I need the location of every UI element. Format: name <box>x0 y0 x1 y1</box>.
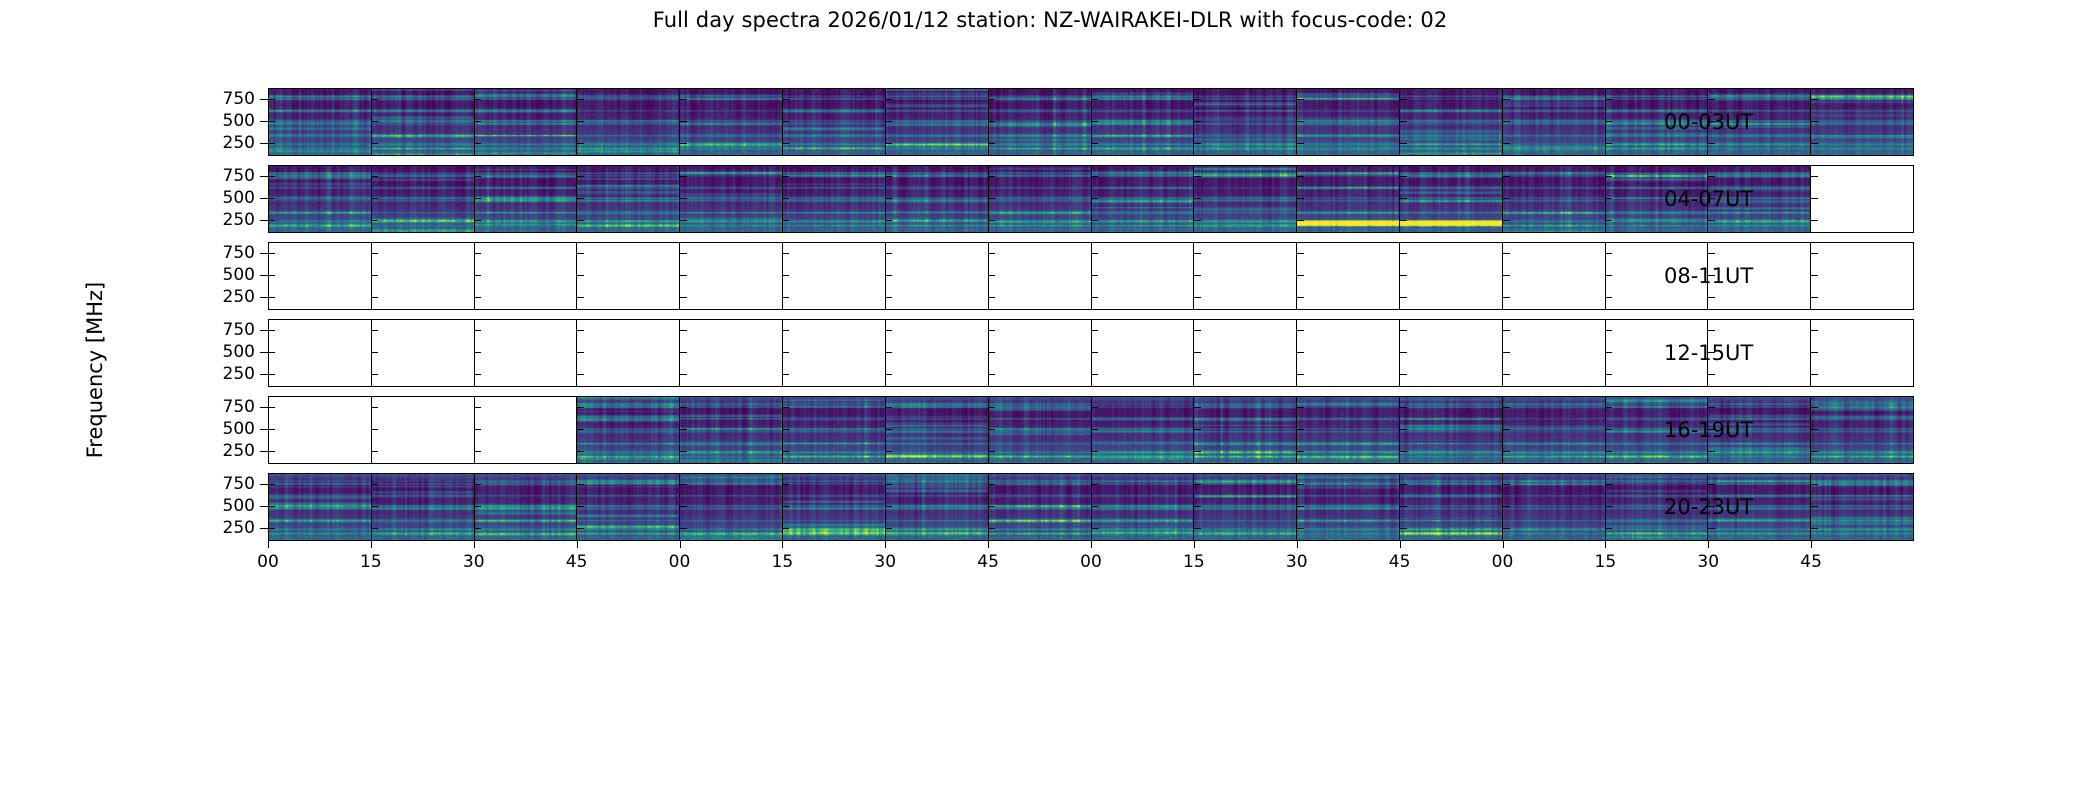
panel-y-tick <box>680 121 687 122</box>
spectrogram-panel[interactable] <box>269 474 372 540</box>
spectrogram-image <box>1297 397 1399 463</box>
panel-y-tick <box>782 275 789 276</box>
panel-y-tick <box>988 143 995 144</box>
spectrogram-panel[interactable] <box>989 474 1092 540</box>
y-axis-tick-label: 500 <box>223 188 255 208</box>
spectrogram-image <box>1400 89 1502 155</box>
panel-y-tick <box>1194 176 1201 177</box>
spectrogram-panel[interactable] <box>1194 397 1297 463</box>
spectrogram-panel[interactable] <box>886 397 989 463</box>
spectrogram-image <box>269 166 371 232</box>
panel-y-tick <box>680 275 687 276</box>
x-axis-tick-label: 00 <box>257 552 279 572</box>
spectrogram-image <box>1092 166 1194 232</box>
spectrogram-image <box>783 397 885 463</box>
spectrogram-panel[interactable] <box>1503 397 1606 463</box>
panel-y-tick <box>680 407 687 408</box>
panel-y-tick <box>1503 220 1510 221</box>
spectrogram-panel[interactable] <box>577 243 680 309</box>
panel-y-tick <box>1708 407 1715 408</box>
spectrogram-panel[interactable] <box>680 166 783 232</box>
panel-y-tick <box>1811 121 1818 122</box>
panel-y-tick <box>1811 275 1818 276</box>
spectrogram-image <box>475 89 577 155</box>
panel-y-tick <box>371 451 378 452</box>
panel-y-tick <box>1605 121 1612 122</box>
panel-y-tick <box>988 352 995 353</box>
panel-y-tick <box>474 275 481 276</box>
panel-y-tick <box>474 484 481 485</box>
panel-y-tick <box>1194 99 1201 100</box>
panel-y-tick <box>1194 484 1201 485</box>
panel-y-tick <box>988 330 995 331</box>
panel-y-tick <box>577 297 584 298</box>
panel-y-tick <box>680 143 687 144</box>
figure-title: Full day spectra 2026/01/12 station: NZ-… <box>0 8 2100 32</box>
x-axis-tick <box>371 541 372 548</box>
panel-y-tick <box>885 429 892 430</box>
spectrogram-image <box>475 166 577 232</box>
panel-y-tick <box>1503 407 1510 408</box>
y-axis-tick <box>260 484 268 485</box>
panel-y-tick <box>1091 407 1098 408</box>
panel-y-tick <box>577 528 584 529</box>
spectrogram-panel[interactable] <box>989 89 1092 155</box>
spectrogram-panel[interactable] <box>577 166 680 232</box>
y-axis-tick-label: 250 <box>223 133 255 153</box>
spectrogram-panel[interactable] <box>1297 320 1400 386</box>
spectrogram-image <box>269 89 371 155</box>
panel-y-tick <box>885 407 892 408</box>
panel-y-tick <box>1400 407 1407 408</box>
panel-y-tick <box>577 407 584 408</box>
panel-y-tick <box>474 143 481 144</box>
y-axis-tick-label: 750 <box>223 474 255 494</box>
spectrogram-panel[interactable] <box>475 243 578 309</box>
spectrogram-panel[interactable] <box>1400 320 1503 386</box>
x-axis-tick-label: 00 <box>1492 552 1514 572</box>
panel-y-tick <box>1400 528 1407 529</box>
panel-y-tick <box>885 143 892 144</box>
panel-y-tick <box>1400 176 1407 177</box>
panel-y-tick <box>1297 484 1304 485</box>
spectrogram-image <box>1400 397 1502 463</box>
spectrogram-image <box>783 166 885 232</box>
panel-y-tick <box>1811 297 1818 298</box>
spectrogram-image <box>1194 166 1296 232</box>
panel-y-tick <box>1091 176 1098 177</box>
panel-y-tick <box>1811 330 1818 331</box>
panel-y-tick <box>371 275 378 276</box>
x-axis-tick-label: 15 <box>772 552 794 572</box>
spectrogram-panel[interactable] <box>1811 397 1913 463</box>
spectrogram-panel[interactable] <box>1194 474 1297 540</box>
spectrogram-panel[interactable] <box>372 320 475 386</box>
panel-y-tick <box>1708 297 1715 298</box>
panel-y-tick <box>885 506 892 507</box>
panel-y-tick <box>680 220 687 221</box>
panel-y-tick <box>680 506 687 507</box>
y-axis-tick <box>260 176 268 177</box>
spectrogram-panel[interactable] <box>1503 474 1606 540</box>
panel-y-tick <box>988 484 995 485</box>
spectrogram-panel[interactable] <box>269 89 372 155</box>
panel-y-tick <box>577 121 584 122</box>
spectrogram-image <box>1194 89 1296 155</box>
panel-y-tick <box>1400 330 1407 331</box>
panel-y-tick <box>1091 374 1098 375</box>
y-axis-tick-label: 750 <box>223 89 255 109</box>
y-axis-tick-label: 750 <box>223 397 255 417</box>
spectrogram-panel[interactable] <box>1194 89 1297 155</box>
panel-y-tick <box>782 297 789 298</box>
x-axis-tick-label: 00 <box>1080 552 1102 572</box>
y-axis-tick-label: 250 <box>223 364 255 384</box>
spectrogram-panel[interactable] <box>1297 243 1400 309</box>
panel-y-tick <box>1605 407 1612 408</box>
panel-y-tick <box>1400 275 1407 276</box>
panel-y-tick <box>988 176 995 177</box>
row-time-label: 08-11UT <box>1664 264 1753 288</box>
x-axis-tick-label: 45 <box>1800 552 1822 572</box>
panel-y-tick <box>680 484 687 485</box>
panel-y-tick <box>1400 253 1407 254</box>
spectrogram-panel[interactable] <box>680 320 783 386</box>
y-axis-tick-inner <box>268 451 275 452</box>
panel-y-tick <box>1708 528 1715 529</box>
spectrogram-image <box>1194 397 1296 463</box>
panel-y-tick <box>577 374 584 375</box>
spectrogram-panel[interactable] <box>1811 89 1913 155</box>
spectrogram-panel[interactable] <box>1811 243 1913 309</box>
panel-y-tick <box>371 297 378 298</box>
panel-y-tick <box>1605 275 1612 276</box>
panel-y-tick <box>782 484 789 485</box>
spectrogram-panel[interactable] <box>1297 397 1400 463</box>
panel-y-tick <box>782 220 789 221</box>
spectrogram-panel[interactable] <box>783 474 886 540</box>
x-axis-tick-label: 00 <box>669 552 691 572</box>
panel-y-tick <box>577 330 584 331</box>
panel-y-tick <box>474 451 481 452</box>
x-axis-tick-label: 45 <box>977 552 999 572</box>
panel-y-tick <box>1194 220 1201 221</box>
spectrogram-panel[interactable] <box>783 89 886 155</box>
panel-y-tick <box>885 198 892 199</box>
panel-y-tick <box>1091 275 1098 276</box>
spectrogram-panel[interactable] <box>783 166 886 232</box>
spectrogram-panel[interactable] <box>1092 89 1195 155</box>
panel-y-tick <box>988 220 995 221</box>
panel-y-tick <box>988 451 995 452</box>
panel-y-tick <box>1708 429 1715 430</box>
panel-y-tick <box>988 253 995 254</box>
spectrogram-panel[interactable] <box>475 166 578 232</box>
panel-y-tick <box>474 429 481 430</box>
x-axis-tick-label: 15 <box>1595 552 1617 572</box>
panel-y-tick <box>371 407 378 408</box>
spectrogram-image <box>1503 474 1605 540</box>
panel-y-tick <box>885 297 892 298</box>
spectrogram-panel[interactable] <box>680 397 783 463</box>
panel-y-tick <box>680 374 687 375</box>
panel-y-tick <box>474 297 481 298</box>
spectrogram-image <box>886 89 988 155</box>
x-axis-tick <box>782 541 783 548</box>
panel-y-tick <box>1503 143 1510 144</box>
panel-y-tick <box>680 330 687 331</box>
x-axis-tick-label: 45 <box>566 552 588 572</box>
spectrogram-panel[interactable] <box>1092 320 1195 386</box>
spectrogram-panel[interactable] <box>783 320 886 386</box>
panel-y-tick <box>1811 374 1818 375</box>
panel-y-tick <box>1605 198 1612 199</box>
spectrogram-panel[interactable] <box>783 243 886 309</box>
spectrogram-panel[interactable] <box>1194 243 1297 309</box>
spectrogram-panel[interactable] <box>1092 474 1195 540</box>
panel-y-tick <box>1708 99 1715 100</box>
spectrogram-panel[interactable] <box>1297 89 1400 155</box>
y-axis-tick-label: 250 <box>223 287 255 307</box>
y-axis-tick <box>260 528 268 529</box>
panel-y-tick <box>1297 99 1304 100</box>
spectrogram-panel[interactable] <box>475 474 578 540</box>
spectrogram-panel[interactable] <box>1194 320 1297 386</box>
spectrogram-panel[interactable] <box>886 243 989 309</box>
spectrogram-panel[interactable] <box>989 166 1092 232</box>
y-axis-tick-label: 250 <box>223 518 255 538</box>
panel-y-tick <box>1811 451 1818 452</box>
y-axis-tick <box>260 220 268 221</box>
spectrogram-panel[interactable] <box>372 474 475 540</box>
panel-y-tick <box>1605 429 1612 430</box>
spectrogram-panel[interactable] <box>1400 243 1503 309</box>
spectrogram-panel[interactable] <box>1503 243 1606 309</box>
panel-y-tick <box>782 253 789 254</box>
panel-y-tick <box>577 253 584 254</box>
y-axis-tick <box>260 330 268 331</box>
panel-y-tick <box>1297 528 1304 529</box>
spectrogram-image <box>680 166 782 232</box>
spectrogram-panel[interactable] <box>1092 166 1195 232</box>
spectrogram-panel[interactable] <box>372 397 475 463</box>
panel-y-tick <box>782 330 789 331</box>
spectrogram-panel[interactable] <box>372 166 475 232</box>
panel-y-tick <box>371 253 378 254</box>
spectrogram-image <box>989 397 1091 463</box>
panel-y-tick <box>680 176 687 177</box>
x-axis-tick <box>1605 541 1606 548</box>
x-axis-tick <box>268 541 269 548</box>
spectrogram-panel[interactable] <box>269 397 372 463</box>
panel-y-tick <box>680 352 687 353</box>
panel-y-tick <box>1503 121 1510 122</box>
panel-y-tick <box>1400 143 1407 144</box>
panel-y-tick <box>577 220 584 221</box>
spectrogram-panel[interactable] <box>989 397 1092 463</box>
y-axis-tick-inner <box>268 253 275 254</box>
panel-y-tick <box>371 198 378 199</box>
spectrogram-panel[interactable] <box>886 474 989 540</box>
spectrogram-panel[interactable] <box>577 397 680 463</box>
spectrogram-panel[interactable] <box>1297 166 1400 232</box>
panel-y-tick <box>988 297 995 298</box>
spectrogram-panel[interactable] <box>372 89 475 155</box>
panel-y-tick <box>782 198 789 199</box>
spectrogram-image <box>989 166 1091 232</box>
spectrogram-image <box>783 89 885 155</box>
spectrogram-panel[interactable] <box>1400 474 1503 540</box>
spectrogram-panel[interactable] <box>1092 397 1195 463</box>
spectrogram-panel[interactable] <box>680 474 783 540</box>
spectrogram-panel[interactable] <box>886 320 989 386</box>
panel-y-tick <box>1194 330 1201 331</box>
spectrogram-image <box>372 474 474 540</box>
spectrogram-panel[interactable] <box>989 320 1092 386</box>
spectrogram-panel[interactable] <box>1811 320 1913 386</box>
spectrogram-panel[interactable] <box>475 89 578 155</box>
panel-y-tick <box>885 220 892 221</box>
panel-y-tick <box>988 506 995 507</box>
y-axis-tick-label: 500 <box>223 342 255 362</box>
panel-y-tick <box>1708 253 1715 254</box>
panel-y-tick <box>1503 275 1510 276</box>
panel-y-tick <box>1811 407 1818 408</box>
panel-y-tick <box>474 528 481 529</box>
spectrogram-panel[interactable] <box>1503 89 1606 155</box>
panel-y-tick <box>474 407 481 408</box>
spectrogram-panel[interactable] <box>886 89 989 155</box>
panel-y-tick <box>1297 176 1304 177</box>
spectrogram-image <box>1092 474 1194 540</box>
y-axis-tick-label: 250 <box>223 210 255 230</box>
panel-y-tick <box>782 451 789 452</box>
spectrogram-panel[interactable] <box>989 243 1092 309</box>
panel-y-tick <box>1091 121 1098 122</box>
panel-y-tick <box>1503 352 1510 353</box>
y-axis-tick-label: 750 <box>223 166 255 186</box>
panel-y-tick <box>1194 451 1201 452</box>
panel-y-tick <box>1503 297 1510 298</box>
y-axis-tick <box>260 253 268 254</box>
panel-y-tick <box>782 143 789 144</box>
panel-y-tick <box>1605 506 1612 507</box>
panel-y-tick <box>1091 352 1098 353</box>
spectrogram-panel[interactable] <box>1297 474 1400 540</box>
panel-y-tick <box>577 176 584 177</box>
panel-y-tick <box>782 407 789 408</box>
y-axis-tick <box>260 407 268 408</box>
y-axis-tick-inner <box>268 429 275 430</box>
panel-y-tick <box>1503 484 1510 485</box>
panel-y-tick <box>1297 275 1304 276</box>
y-axis-tick-label: 250 <box>223 441 255 461</box>
spectrogram-panel[interactable] <box>1503 166 1606 232</box>
panel-y-tick <box>1091 330 1098 331</box>
spectrogram-panel[interactable] <box>269 166 372 232</box>
y-axis-tick-inner <box>268 506 275 507</box>
panel-y-tick <box>1708 330 1715 331</box>
panel-y-tick <box>371 484 378 485</box>
y-axis-tick-inner <box>268 220 275 221</box>
spectrogram-panel[interactable] <box>1811 166 1913 232</box>
panel-y-tick <box>1708 121 1715 122</box>
panel-y-tick <box>1091 143 1098 144</box>
panel-y-tick <box>1503 176 1510 177</box>
spectrogram-panel[interactable] <box>372 243 475 309</box>
spectrogram-panel[interactable] <box>475 320 578 386</box>
y-axis-tick <box>260 451 268 452</box>
spectrogram-panel[interactable] <box>577 474 680 540</box>
panel-y-tick <box>1297 121 1304 122</box>
spectrogram-panel[interactable] <box>1400 166 1503 232</box>
x-axis-tick-label: 30 <box>1286 552 1308 572</box>
spectrogram-panel[interactable] <box>1400 89 1503 155</box>
panel-y-tick <box>1297 330 1304 331</box>
panel-y-tick <box>371 429 378 430</box>
panel-y-tick <box>1297 429 1304 430</box>
panel-y-tick <box>371 352 378 353</box>
spectrogram-panel[interactable] <box>475 397 578 463</box>
panel-y-tick <box>1091 253 1098 254</box>
panel-y-tick <box>1297 253 1304 254</box>
panel-y-tick <box>371 176 378 177</box>
spectrogram-panel[interactable] <box>1811 474 1913 540</box>
spectrogram-image <box>680 397 782 463</box>
spectrogram-panel[interactable] <box>577 89 680 155</box>
spectrogram-panel[interactable] <box>783 397 886 463</box>
panel-y-tick <box>1708 484 1715 485</box>
panel-y-tick <box>1297 374 1304 375</box>
panel-y-tick <box>1811 99 1818 100</box>
panel-y-tick <box>1194 528 1201 529</box>
panel-y-tick <box>885 528 892 529</box>
spectrogram-image <box>1503 89 1605 155</box>
spectrogram-panel[interactable] <box>269 320 372 386</box>
spectrogram-panel[interactable] <box>680 243 783 309</box>
y-axis-tick-label: 500 <box>223 496 255 516</box>
spectrogram-panel[interactable] <box>269 243 372 309</box>
y-axis-tick-inner <box>268 484 275 485</box>
spectrogram-panel[interactable] <box>577 320 680 386</box>
panel-y-tick <box>1091 429 1098 430</box>
spectrogram-image <box>475 474 577 540</box>
y-axis-tick-label: 500 <box>223 111 255 131</box>
panel-y-tick <box>577 143 584 144</box>
spectrogram-panel[interactable] <box>1194 166 1297 232</box>
y-axis-tick-inner <box>268 143 275 144</box>
panel-y-tick <box>1194 121 1201 122</box>
panel-y-tick <box>1605 143 1612 144</box>
y-axis-tick <box>260 352 268 353</box>
spectrogram-panel[interactable] <box>680 89 783 155</box>
y-axis-tick-inner <box>268 297 275 298</box>
panel-y-tick <box>577 275 584 276</box>
x-axis-tick-label: 30 <box>874 552 896 572</box>
spectrogram-panel[interactable] <box>1400 397 1503 463</box>
panel-y-tick <box>1091 484 1098 485</box>
panel-y-tick <box>988 99 995 100</box>
spectrogram-panel[interactable] <box>886 166 989 232</box>
panel-y-tick <box>1708 352 1715 353</box>
panel-y-tick <box>1708 176 1715 177</box>
panel-y-tick <box>1297 220 1304 221</box>
panel-y-tick <box>1605 374 1612 375</box>
y-axis-tick-inner <box>268 121 275 122</box>
panel-y-tick <box>474 253 481 254</box>
spectrogram-panel[interactable] <box>1092 243 1195 309</box>
spectrogram-panel[interactable] <box>1503 320 1606 386</box>
